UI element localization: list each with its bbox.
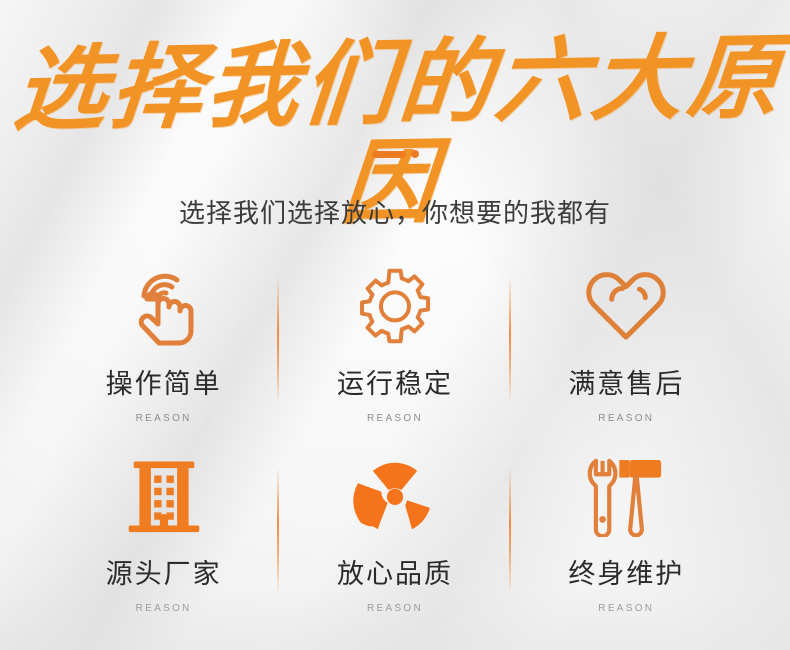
reason-item-2: 运行稳定 REASON [279, 258, 510, 448]
reason-label: 满意售后 [568, 362, 684, 401]
reason-caption: REASON [598, 413, 654, 424]
reason-item-5: 放心品质 REASON [279, 448, 510, 638]
ornament-dot [411, 150, 419, 158]
tap-hand-icon [127, 264, 201, 348]
radiation-quality-icon [352, 454, 438, 538]
reason-label: 放心品质 [337, 552, 453, 591]
factory-building-icon [123, 454, 205, 538]
reason-label: 源头厂家 [106, 552, 222, 591]
reason-caption: REASON [367, 603, 423, 614]
title-ornament [0, 150, 790, 158]
reason-label: 操作简单 [106, 362, 222, 401]
reason-item-6: 终身维护 REASON [511, 448, 742, 638]
reason-caption: REASON [598, 603, 654, 614]
promo-banner: 选择我们的六大原因 选择我们选择放心，你想要的我都有 操作简单 REASON [0, 0, 790, 650]
ornament-bar [372, 151, 406, 158]
reason-item-3: 满意售后 REASON [511, 258, 742, 448]
gear-icon [355, 264, 435, 348]
reason-label: 终身维护 [568, 552, 684, 591]
reasons-grid: 操作简单 REASON 运行稳定 REASON [48, 258, 742, 638]
heart-icon [584, 264, 668, 348]
reason-caption: REASON [136, 413, 192, 424]
reason-item-1: 操作简单 REASON [48, 258, 279, 448]
reason-caption: REASON [367, 413, 423, 424]
page-subtitle: 选择我们选择放心，你想要的我都有 [0, 193, 790, 230]
reason-item-4: 源头厂家 REASON [48, 448, 279, 638]
reason-label: 运行稳定 [337, 362, 453, 401]
reason-caption: REASON [136, 603, 192, 614]
wrench-hammer-icon [580, 454, 672, 538]
